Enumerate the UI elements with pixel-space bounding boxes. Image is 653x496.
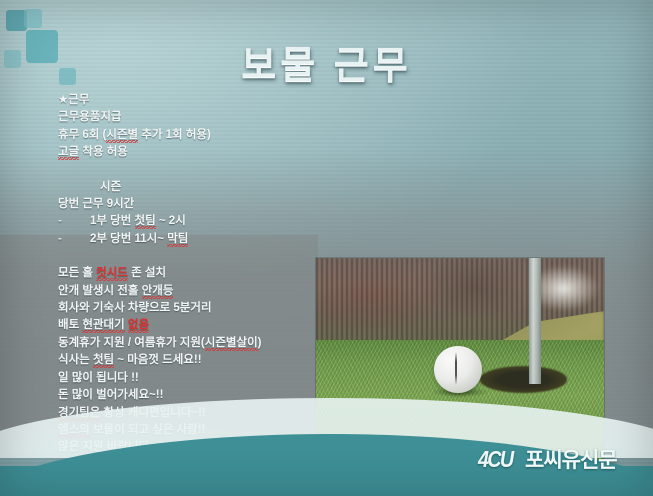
bullet-dash: -	[58, 213, 90, 230]
watermark-label: 포씨유신문	[525, 450, 617, 471]
spellcheck-word: 첫팀	[93, 354, 114, 368]
body-line: 안개 발생시 전홀 안개등	[58, 283, 328, 300]
body-line: 근무용품지급	[58, 109, 328, 126]
spellcheck-word: 현관대기	[82, 319, 124, 333]
highlighted-keyword: 없음	[128, 319, 149, 333]
highlighted-keyword: 컷시드	[96, 267, 128, 281]
spellcheck-word: 막팀	[167, 233, 188, 247]
body-line: 고글 착용 허용	[58, 144, 328, 161]
bullet-dash: -	[58, 231, 90, 248]
spellcheck-word: 시즌별	[106, 129, 138, 143]
photo-flagstick	[529, 258, 541, 384]
presentation-slide: 보물 근무 ★근무근무용품지급휴무 6회 (시즌별 추가 1회 허용)고글 착용…	[0, 0, 653, 496]
photo-golf-ball	[434, 346, 482, 393]
watermark: 4CU 포씨유신문	[478, 448, 617, 471]
body-line-spacer	[58, 162, 328, 179]
spellcheck-word: 시즌별살이	[205, 337, 258, 351]
body-subheading: 시즌	[58, 179, 328, 196]
body-line: 당번 근무 9시간	[58, 196, 328, 213]
body-line: 식사는 첫팀 ~ 마음껏 드세요!!	[58, 352, 328, 369]
body-line: 동계휴가 지원 / 여름휴가 지원(시즌별살이)	[58, 335, 328, 352]
photo-golf-hole	[480, 366, 566, 393]
body-line: 휴무 6회 (시즌별 추가 1회 허용)	[58, 127, 328, 144]
spellcheck-word: 첫팀	[135, 215, 156, 229]
body-bullet-item: -2부 당번 11시~ 막팀	[58, 231, 328, 248]
body-line: 모든 홀 컷시드 존 설치	[58, 265, 328, 282]
spellcheck-word: 안개등	[142, 285, 174, 299]
spellcheck-word: 고글	[58, 146, 79, 160]
body-bullet-item: -1부 당번 첫팀 ~ 2시	[58, 213, 328, 230]
watermark-logo-mark: 4CU	[478, 448, 512, 471]
decorative-square-2	[24, 9, 42, 28]
slide-title: 보물 근무	[0, 34, 653, 89]
body-line: ★근무	[58, 92, 328, 109]
body-line-spacer	[58, 248, 328, 265]
body-line: 배토 현관대기 없음	[58, 317, 328, 334]
body-line: 회사와 기숙사 차량으로 5분거리	[58, 300, 328, 317]
body-line: 일 많이 됩니다 !!	[58, 370, 328, 387]
